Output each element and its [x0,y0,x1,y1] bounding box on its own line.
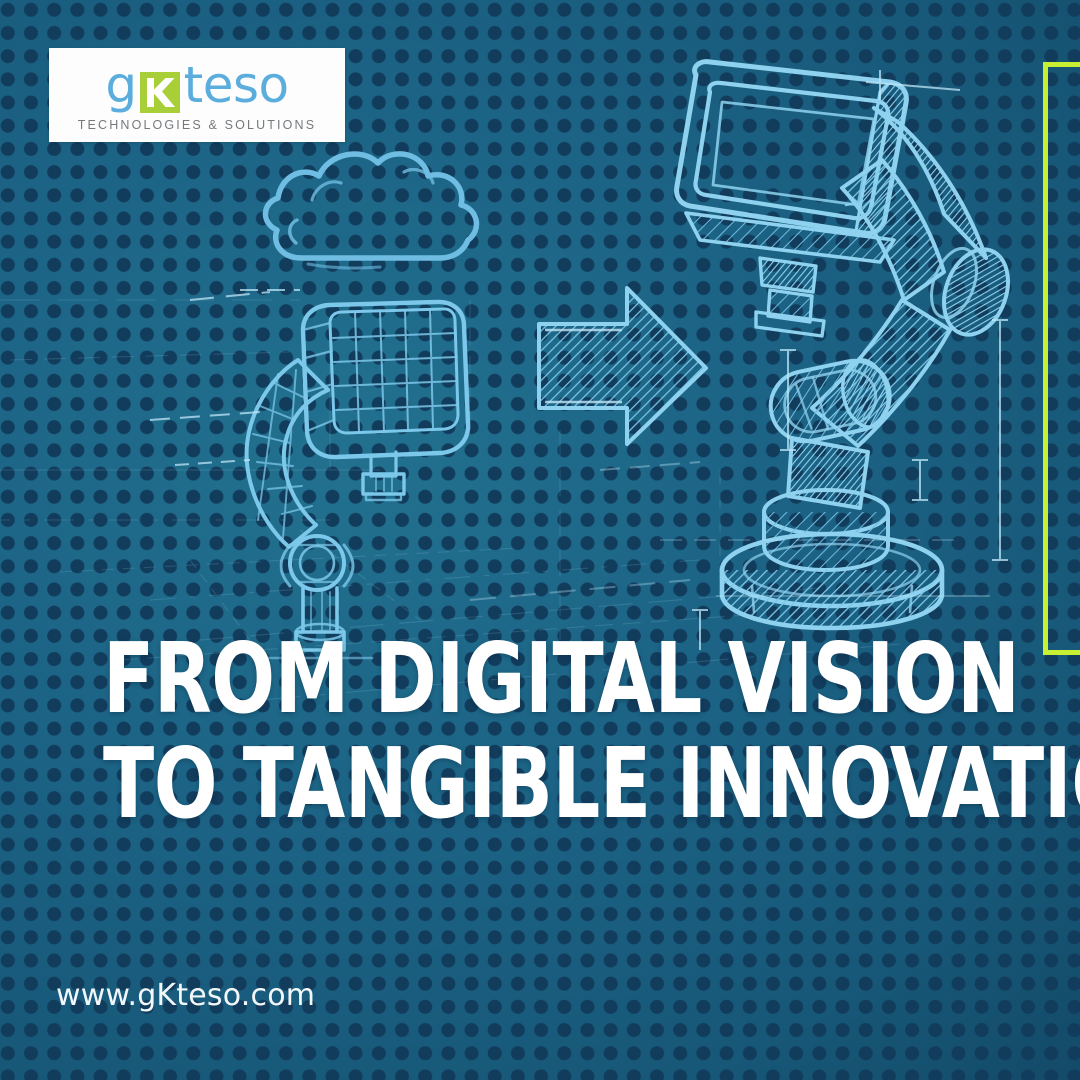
website-url[interactable]: www.gKteso.com [56,978,315,1013]
accent-bracket [1043,62,1080,655]
social-media-poster: g teso TECHNOLOGIES & SOLUTIONS FROM DIG… [0,0,1080,1080]
logo-tagline: TECHNOLOGIES & SOLUTIONS [78,118,316,132]
headline-line-1: FROM DIGITAL VISION [103,632,877,725]
letter-k-glyph [140,72,180,113]
brand-logo[interactable]: g teso TECHNOLOGIES & SOLUTIONS [49,48,345,142]
headline-block: FROM DIGITAL VISION TO TANGIBLE INNOVATI… [103,632,1003,830]
halftone-dot-pattern [0,0,1080,1080]
logo-letters-teso: teso [184,60,289,110]
logo-letter-k-badge [140,72,180,113]
headline-line-2: TO TANGIBLE INNOVATION [103,737,877,830]
logo-wordmark: g teso [105,60,288,114]
logo-letter-g: g [105,60,136,110]
